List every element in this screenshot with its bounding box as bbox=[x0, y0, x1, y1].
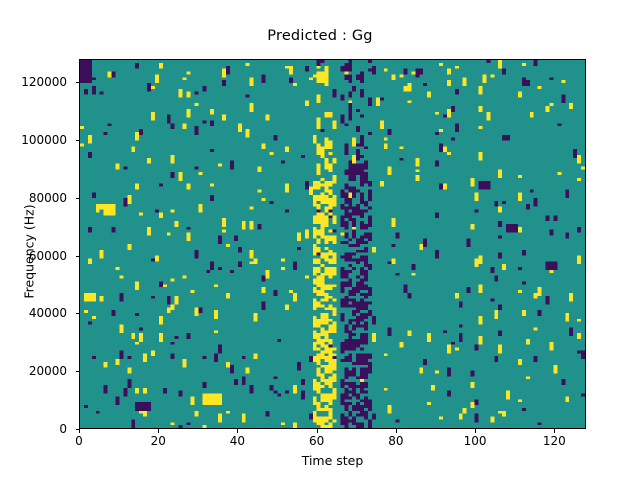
y-tick-mark bbox=[76, 256, 80, 257]
x-tick-label: 120 bbox=[543, 434, 566, 448]
x-tick-mark bbox=[554, 429, 555, 433]
y-tick-mark bbox=[76, 313, 80, 314]
x-tick-mark bbox=[396, 429, 397, 433]
y-tick-mark bbox=[76, 82, 80, 83]
y-axis-label: Frequency (Hz) bbox=[22, 67, 37, 437]
x-axis-label: Time step bbox=[79, 453, 586, 468]
y-tick-mark bbox=[76, 140, 80, 141]
heatmap-plot-area bbox=[79, 59, 586, 429]
x-tick-label: 20 bbox=[151, 434, 166, 448]
heatmap-image bbox=[80, 60, 585, 428]
page-title: Predicted : Gg bbox=[0, 28, 640, 44]
x-tick-label: 60 bbox=[309, 434, 324, 448]
matplotlib-figure: Predicted : Gg 0200004000060000800001000… bbox=[0, 0, 640, 480]
x-tick-label: 100 bbox=[464, 434, 487, 448]
x-tick-mark bbox=[158, 429, 159, 433]
y-tick-mark bbox=[76, 198, 80, 199]
x-tick-label: 80 bbox=[388, 434, 403, 448]
x-tick-label: 0 bbox=[75, 434, 83, 448]
x-tick-mark bbox=[317, 429, 318, 433]
y-tick-label: 0 bbox=[59, 422, 67, 436]
y-tick-mark bbox=[76, 371, 80, 372]
x-tick-mark bbox=[79, 429, 80, 433]
x-tick-mark bbox=[475, 429, 476, 433]
x-tick-label: 40 bbox=[230, 434, 245, 448]
x-tick-mark bbox=[237, 429, 238, 433]
